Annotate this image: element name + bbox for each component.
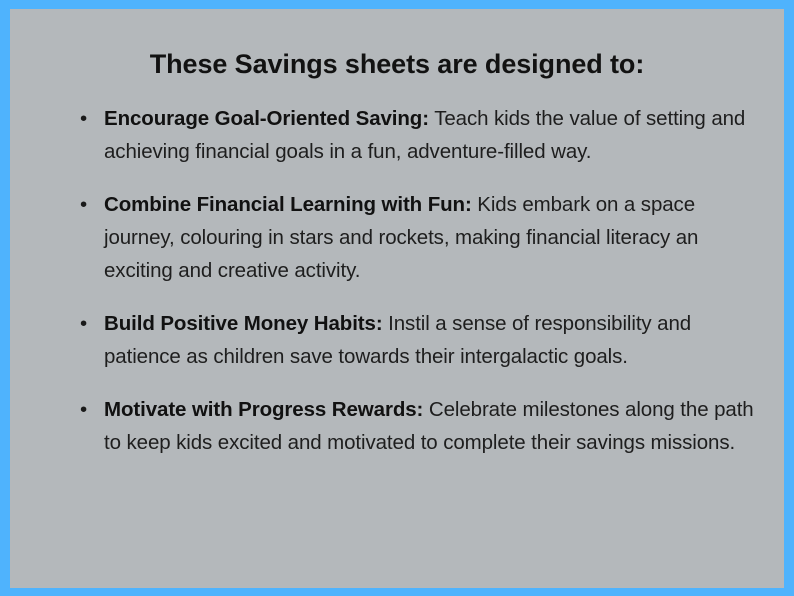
bullet-point-icon: • xyxy=(80,307,94,340)
list-item: • Encourage Goal-Oriented Saving: Teach … xyxy=(68,102,756,168)
bullet-list: • Encourage Goal-Oriented Saving: Teach … xyxy=(68,102,756,459)
slide-frame: These Savings sheets are designed to: • … xyxy=(0,0,794,596)
list-item: • Motivate with Progress Rewards: Celebr… xyxy=(68,393,756,459)
bullet-point-icon: • xyxy=(80,188,94,221)
list-item: • Build Positive Money Habits: Instil a … xyxy=(68,307,756,373)
list-item: • Combine Financial Learning with Fun: K… xyxy=(68,188,756,287)
list-item-lead: Encourage Goal-Oriented Saving: xyxy=(104,107,429,130)
list-item-lead: Build Positive Money Habits: xyxy=(104,312,383,335)
list-item-lead: Motivate with Progress Rewards: xyxy=(104,398,423,421)
slide-canvas: These Savings sheets are designed to: • … xyxy=(10,9,784,588)
list-item-lead: Combine Financial Learning with Fun: xyxy=(104,193,472,216)
bullet-point-icon: • xyxy=(80,102,94,135)
bullet-point-icon: • xyxy=(80,393,94,426)
page-title: These Savings sheets are designed to: xyxy=(10,48,784,82)
